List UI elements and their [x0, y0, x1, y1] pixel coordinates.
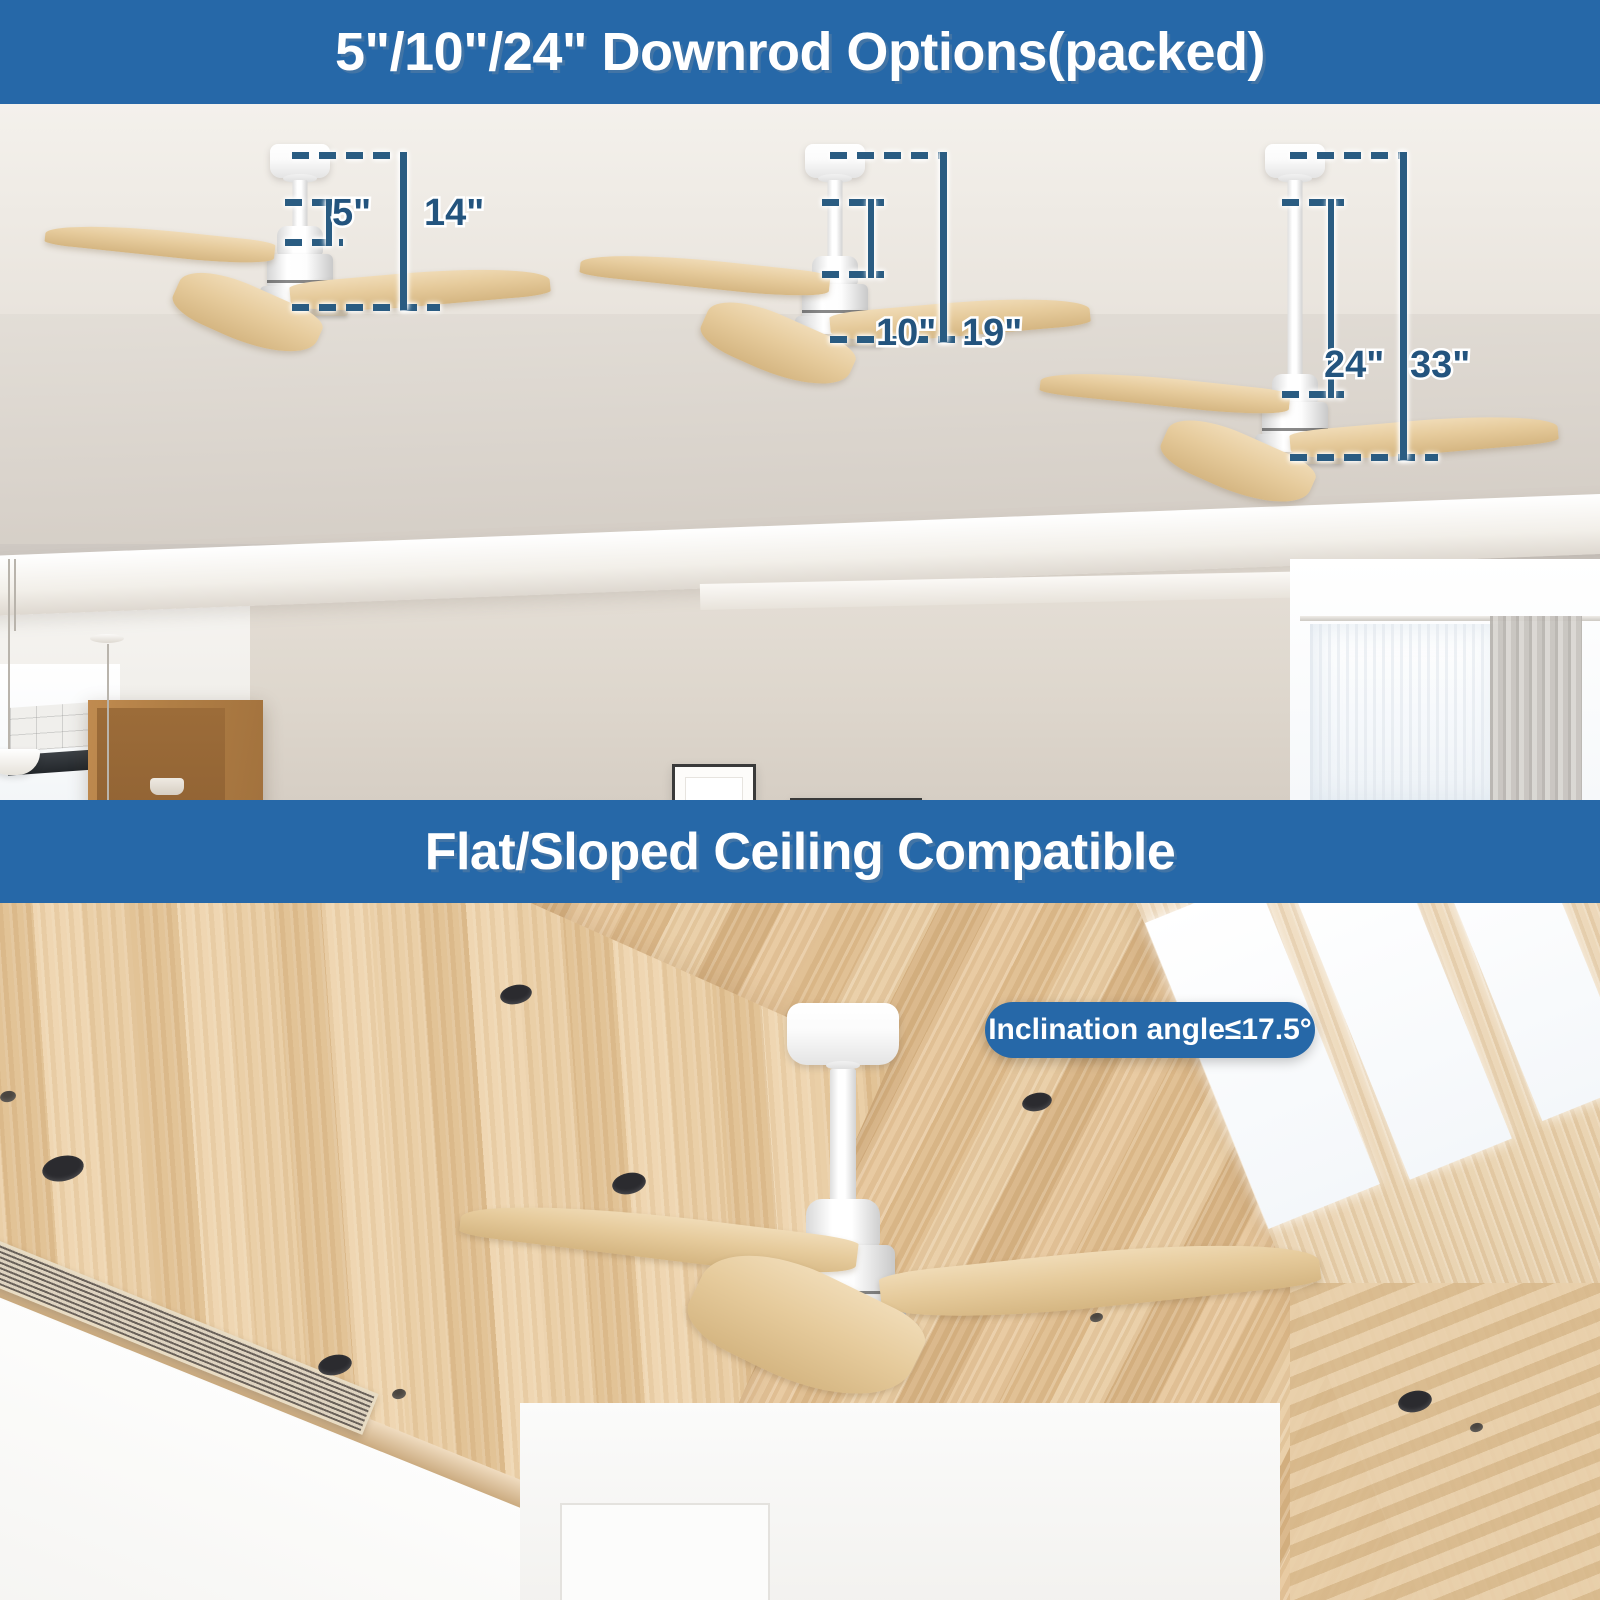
- product-infographic: 5"/10"/24" Downrod Options(packed): [0, 0, 1600, 1600]
- dim-label-rod-5in: 5": [332, 192, 371, 235]
- middle-banner-title: Flat/Sloped Ceiling Compatible: [425, 822, 1176, 882]
- dim-blade-dash-5in: [292, 304, 440, 311]
- fan-canopy: [787, 1003, 899, 1065]
- sheer-curtain: [1310, 624, 1500, 800]
- fan-downrod: [828, 180, 843, 258]
- dim-label-rod-24in: 24": [1324, 344, 1384, 387]
- dim-rod-top-dash-10in: [822, 199, 884, 206]
- dim-total-line-24in: [1400, 152, 1407, 460]
- dim-blade-dash-24in: [1290, 454, 1438, 461]
- fan-canopy: [805, 144, 865, 178]
- pendant-cord: [107, 644, 109, 800]
- dim-top-dash-10in: [830, 152, 940, 159]
- fan-downrod: [830, 1069, 856, 1203]
- dim-top-dash-24in: [1290, 152, 1405, 159]
- stair-treads: [1290, 1283, 1600, 1600]
- dim-top-dash-5in: [292, 152, 404, 159]
- wall-art-frame: [672, 764, 756, 800]
- top-banner-title: 5"/10"/24" Downrod Options(packed): [335, 21, 1265, 83]
- dim-label-total-33in: 33": [1410, 344, 1470, 387]
- pendant-cord: [14, 559, 16, 631]
- dim-rod-bot-dash-5in: [285, 239, 343, 246]
- inclination-angle-badge: Inclination angle≤17.5°: [985, 1002, 1315, 1058]
- dim-label-rod-10in: 10": [876, 312, 936, 355]
- inclination-angle-text: Inclination angle≤17.5°: [988, 1013, 1312, 1047]
- dim-label-total-14in: 14": [424, 192, 484, 235]
- top-banner: 5"/10"/24" Downrod Options(packed): [0, 0, 1600, 104]
- dim-rod-bot-dash-24in: [1282, 391, 1344, 398]
- wood-shelf-cabinet: [88, 700, 263, 800]
- dim-rod-bot-dash-10in: [822, 271, 884, 278]
- dim-rod-bracket-10in: [868, 199, 874, 278]
- dim-label-total-19in: 19": [962, 312, 1022, 355]
- middle-banner: Flat/Sloped Ceiling Compatible: [0, 800, 1600, 903]
- fan-canopy: [270, 144, 330, 178]
- curtain-panel: [1490, 616, 1582, 800]
- dim-rod-top-dash-24in: [1282, 199, 1344, 206]
- pendant-canopy-disc: [90, 634, 124, 643]
- dim-total-line-5in: [400, 152, 407, 310]
- cabinet-bowl: [150, 778, 184, 795]
- sloped-ceiling-scene: Inclination angle≤17.5°: [0, 903, 1600, 1600]
- frame-mat: [685, 777, 743, 800]
- flat-ceiling-scene: 5" 14" 10" 19": [0, 104, 1600, 800]
- fan-downrod: [1288, 180, 1303, 376]
- door-panel: [560, 1503, 770, 1600]
- pendant-cord: [8, 559, 10, 749]
- dim-total-line-10in: [940, 152, 947, 342]
- fan-canopy: [1265, 144, 1325, 178]
